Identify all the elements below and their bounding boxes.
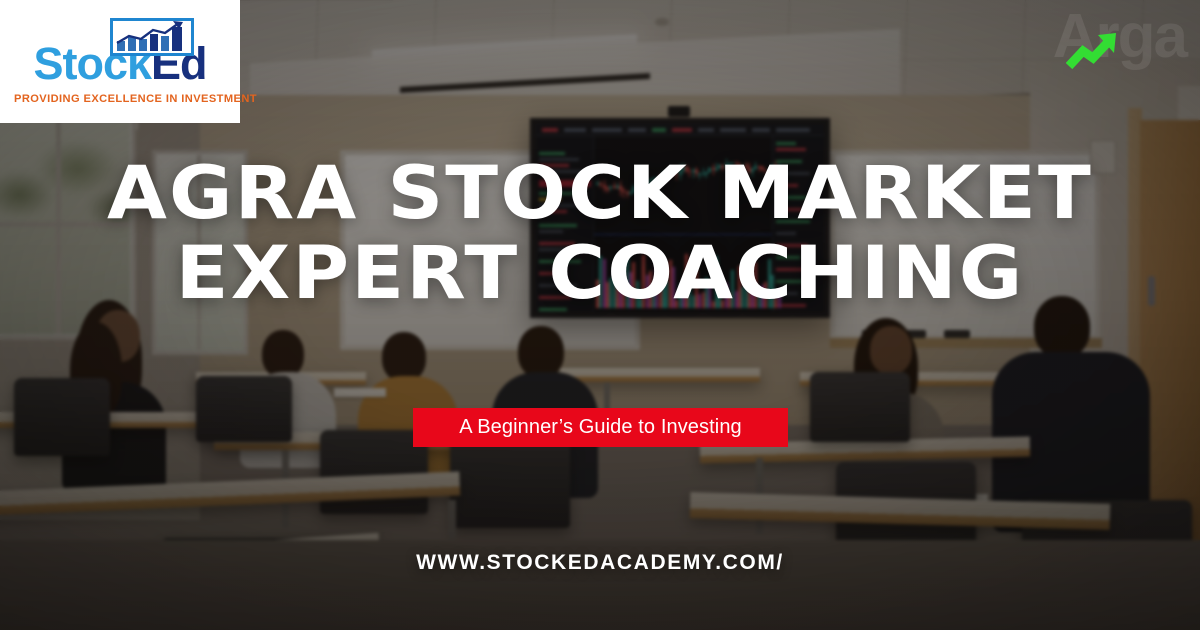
promo-poster: StockEd PROVIDING EXCELLENCE IN INVESTME… (0, 0, 1200, 630)
website-url[interactable]: WWW.STOCKEDACADEMY.COM/ (0, 551, 1200, 575)
headline-line-1: AGRA STOCK MARKET (0, 158, 1200, 230)
brand-tagline: PROVIDING EXCELLENCE IN INVESTMENT (14, 93, 226, 105)
subtitle-ribbon[interactable]: A Beginner’s Guide to Investing (413, 408, 788, 447)
headline-line-2: EXPERT COACHING (0, 238, 1200, 310)
brand-logo[interactable]: StockEd PROVIDING EXCELLENCE IN INVESTME… (0, 0, 240, 123)
page-title: AGRA STOCK MARKET EXPERT COACHING (0, 158, 1200, 309)
green-up-arrow-icon (1066, 30, 1122, 77)
growth-bar-chart-icon (110, 18, 194, 56)
subtitle-ribbon-label: A Beginner’s Guide to Investing (459, 416, 742, 439)
